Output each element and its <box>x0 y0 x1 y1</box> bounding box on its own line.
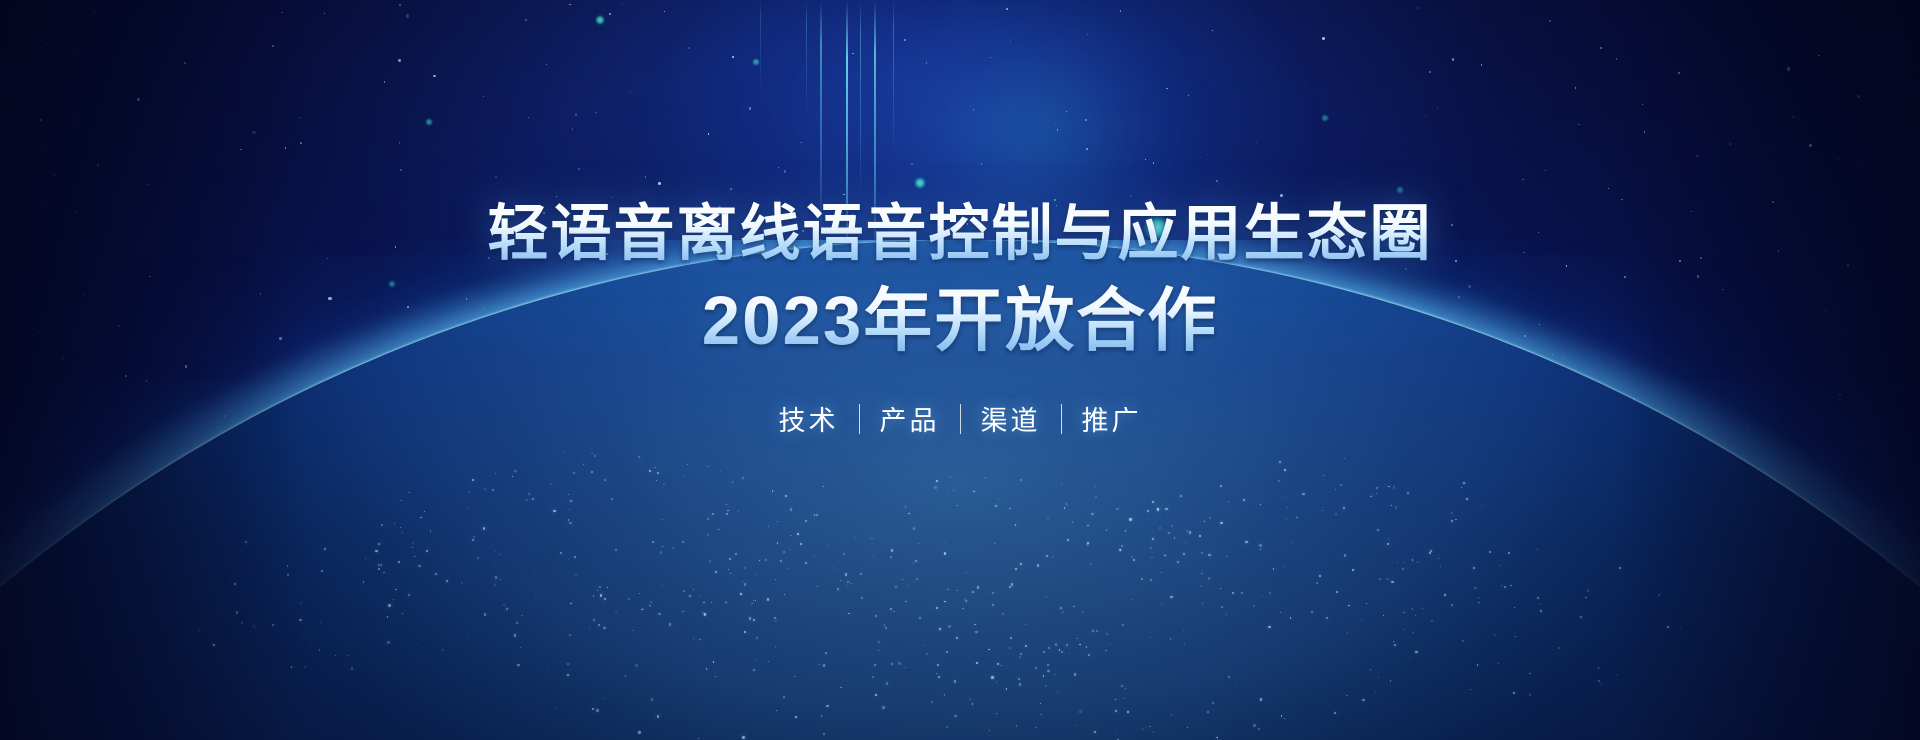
tag-item: 产品 <box>860 399 960 438</box>
tag-item: 推广 <box>1062 399 1162 438</box>
banner-tag-list: 技术产品渠道推广 <box>759 399 1162 438</box>
banner-title-line1: 轻语音离线语音控制与应用生态圈 <box>487 198 1432 270</box>
banner-title-line2: 2023年开放合作 <box>702 280 1219 361</box>
banner-stage: 轻语音离线语音控制与应用生态圈 2023年开放合作 技术产品渠道推广 <box>0 0 1920 740</box>
tag-item: 渠道 <box>961 399 1061 438</box>
banner-content: 轻语音离线语音控制与应用生态圈 2023年开放合作 技术产品渠道推广 <box>0 0 1920 740</box>
tag-item: 技术 <box>759 399 859 438</box>
